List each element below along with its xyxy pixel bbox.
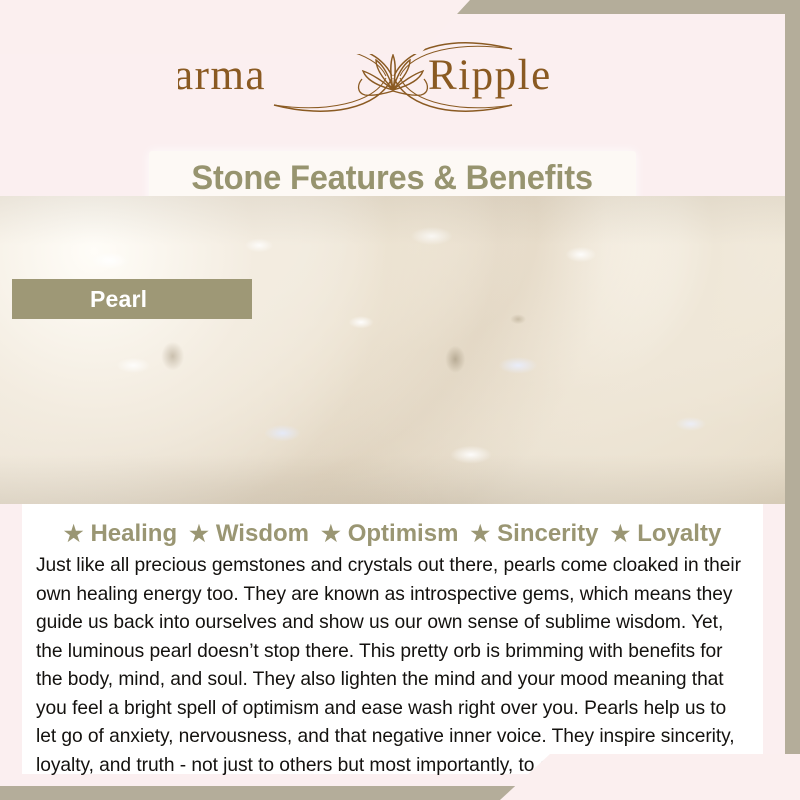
description-panel: ★ Healing ★ Wisdom ★ Optimism ★ Sincerit… <box>22 504 763 774</box>
keyword-label: Loyalty <box>637 520 721 548</box>
keyword-label: Optimism <box>348 520 459 548</box>
star-icon: ★ <box>470 523 490 545</box>
lotus-flower-icon <box>358 55 427 95</box>
description-text: Just like all precious gemstones and cry… <box>32 552 753 780</box>
stone-photo <box>0 196 785 504</box>
page-title: Stone Features & Benefits <box>192 156 593 200</box>
keyword-label: Wisdom <box>216 520 309 548</box>
infographic-page: Karma Ripple Stone Features & Benefits P… <box>0 0 800 800</box>
keyword-label: Healing <box>90 520 177 548</box>
keyword-item: ★ Loyalty <box>611 520 722 548</box>
star-icon: ★ <box>64 523 84 545</box>
photo-vignette <box>0 196 785 504</box>
keyword-item: ★ Optimism <box>321 520 458 548</box>
keyword-item: ★ Healing <box>64 520 177 548</box>
corner-notch-top-left <box>0 0 470 54</box>
corner-notch-bottom-right <box>500 754 800 800</box>
keyword-label: Sincerity <box>497 520 598 548</box>
brand-name-left: Karma <box>178 52 266 99</box>
brand-name-right: Ripple <box>428 52 552 99</box>
star-icon: ★ <box>189 523 209 545</box>
star-icon: ★ <box>321 523 341 545</box>
content-card: Karma Ripple Stone Features & Benefits P… <box>0 14 785 786</box>
stone-name: Pearl <box>12 286 147 313</box>
keyword-list: ★ Healing ★ Wisdom ★ Optimism ★ Sincerit… <box>32 520 753 548</box>
star-icon: ★ <box>611 523 631 545</box>
stone-name-band: Pearl <box>12 279 252 319</box>
keyword-item: ★ Sincerity <box>470 520 598 548</box>
keyword-item: ★ Wisdom <box>189 520 309 548</box>
